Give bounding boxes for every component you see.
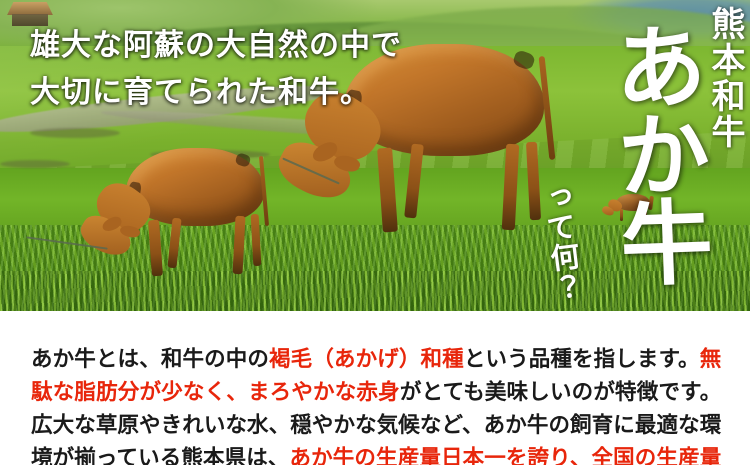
description-panel: あか牛とは、和牛の中の褐毛（あかげ）和種という品種を指します。無駄な脂肪分が少な…	[0, 311, 750, 465]
dirt-patch	[30, 128, 120, 138]
cow-leg	[526, 142, 541, 220]
cow-leg	[377, 148, 398, 233]
description-plain: という品種を指します。	[464, 347, 700, 371]
headline: 雄大な阿蘇の大自然の中で 大切に育てられた和牛。	[30, 22, 550, 116]
title-vertical-akaushi: あか牛	[606, 18, 703, 285]
description-highlight: 褐毛（あかげ）和種	[269, 347, 464, 371]
pasture-photo: 雄大な阿蘇の大自然の中で 大切に育てられた和牛。 熊本和牛 あか牛 って何？	[0, 0, 750, 311]
cow-leg	[404, 144, 424, 219]
dirt-patch	[0, 160, 70, 168]
description-plain: あか牛とは、和牛の中の	[31, 347, 269, 371]
cow-leg	[251, 214, 262, 266]
cow-grazing-left	[84, 148, 284, 280]
cow-leg	[502, 144, 519, 231]
cow-leg	[232, 216, 245, 274]
description-text: あか牛とは、和牛の中の褐毛（あかげ）和種という品種を指します。無駄な脂肪分が少な…	[31, 343, 721, 465]
akaushi-promo-banner: 雄大な阿蘇の大自然の中で 大切に育てられた和牛。 熊本和牛 あか牛 って何？ あ…	[0, 0, 750, 465]
cow-leg	[167, 218, 181, 269]
brand-vertical-label: 熊本和牛	[706, 6, 741, 150]
cow-leg	[148, 220, 163, 277]
